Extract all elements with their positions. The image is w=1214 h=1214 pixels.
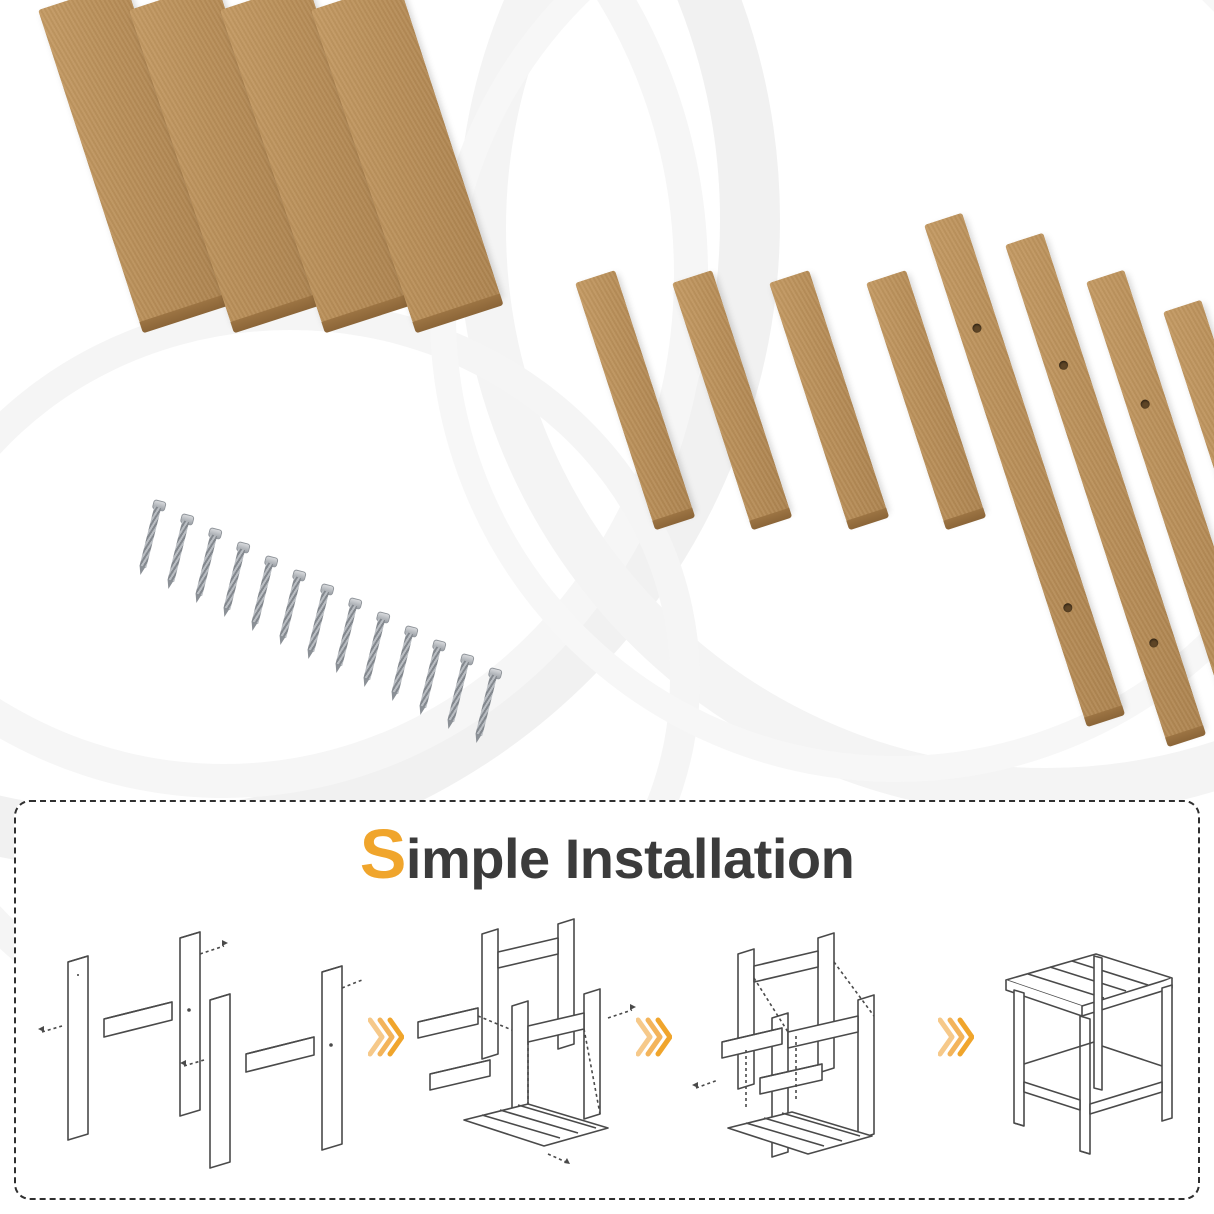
screw-shank xyxy=(195,534,217,596)
screw-shank xyxy=(419,646,441,708)
screw-tip xyxy=(445,719,453,729)
screw-shank xyxy=(251,562,273,624)
step-1-attach-side-rails xyxy=(32,914,362,1174)
short-rail-face xyxy=(575,270,693,523)
short-rail xyxy=(769,270,887,523)
screw-tip xyxy=(193,593,201,603)
short-rail xyxy=(575,270,693,523)
screw-shank xyxy=(167,520,189,582)
arrow-3 xyxy=(938,1014,974,1060)
screw-tip xyxy=(277,635,285,645)
screw-shank xyxy=(391,632,413,694)
parts-layout xyxy=(0,0,1214,800)
screw-shank xyxy=(223,548,245,610)
step-4-finished-table xyxy=(984,914,1194,1174)
installation-steps xyxy=(16,914,1198,1184)
screw-shank xyxy=(139,506,161,568)
short-rail xyxy=(672,270,790,523)
screw-tip xyxy=(333,663,341,673)
screw-shank xyxy=(335,604,357,666)
step-2-join-frames xyxy=(408,914,648,1174)
product-image: Simple Installation xyxy=(0,0,1214,1214)
screw-tip xyxy=(137,565,145,575)
installation-title-first-letter: S xyxy=(360,815,406,893)
screw-tip xyxy=(473,733,481,743)
step-3-add-lower-shelf xyxy=(676,914,946,1174)
arrow-1 xyxy=(368,1014,404,1060)
screw-tip xyxy=(249,621,257,631)
screw-tip xyxy=(305,649,313,659)
short-rail-face xyxy=(769,270,887,523)
screw-shank xyxy=(447,660,469,722)
installation-title: Simple Installation xyxy=(16,826,1198,891)
screw-shank xyxy=(475,674,497,736)
screw-shank xyxy=(279,576,301,638)
screw-tip xyxy=(417,705,425,715)
arrow-2 xyxy=(636,1014,672,1060)
short-rail-face xyxy=(672,270,790,523)
installation-title-rest: imple Installation xyxy=(406,827,854,890)
screw-tip xyxy=(361,677,369,687)
screw-tip xyxy=(165,579,173,589)
screw-tip xyxy=(221,607,229,617)
screw-shank xyxy=(307,590,329,652)
screw-shank xyxy=(363,618,385,680)
screw-tip xyxy=(389,691,397,701)
installation-panel: Simple Installation xyxy=(14,800,1200,1200)
